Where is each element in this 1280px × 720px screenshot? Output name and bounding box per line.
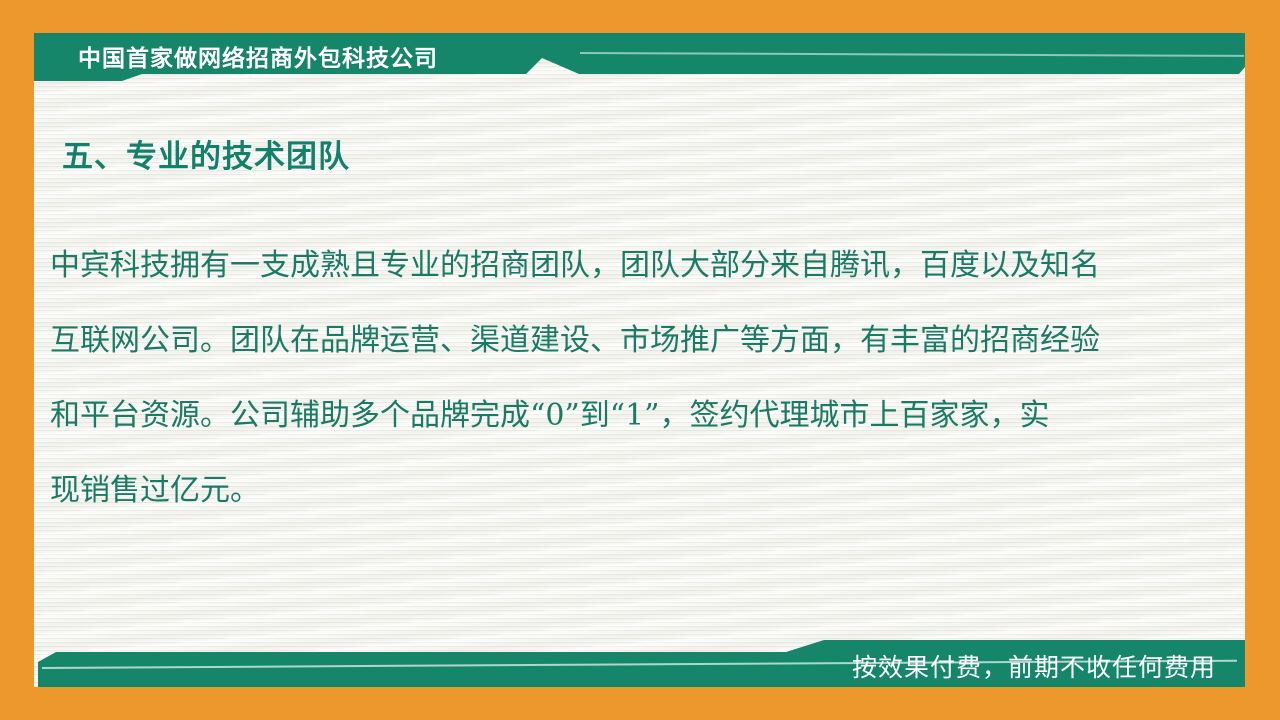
header-title: 中国首家做网络招商外包科技公司 (78, 39, 438, 73)
section-heading: 五、专业的技术团队 (62, 131, 350, 176)
body-line: 现销售过亿元。 (50, 453, 1190, 528)
presentation-slide: 中国首家做网络招商外包科技公司 五、专业的技术团队 中宾科技拥有一支成熟且专业的… (0, 0, 1280, 720)
header-banner: 中国首家做网络招商外包科技公司 (34, 33, 1245, 81)
body-line: 互联网公司。团队在品牌运营、渠道建设、市场推广等方面，有丰富的招商经验 (50, 303, 1190, 378)
body-line: 和平台资源。公司辅助多个品牌完成“0”到“1”，签约代理城市上百家家，实 (50, 378, 1190, 453)
footer-tagline: 按效果付费，前期不收任何费用 (852, 648, 1216, 684)
footer-banner: 按效果付费，前期不收任何费用 (34, 640, 1245, 687)
body-line: 中宾科技拥有一支成熟且专业的招商团队，团队大部分来自腾讯，百度以及知名 (50, 228, 1190, 303)
body-paragraph: 中宾科技拥有一支成熟且专业的招商团队，团队大部分来自腾讯，百度以及知名 互联网公… (50, 228, 1190, 528)
